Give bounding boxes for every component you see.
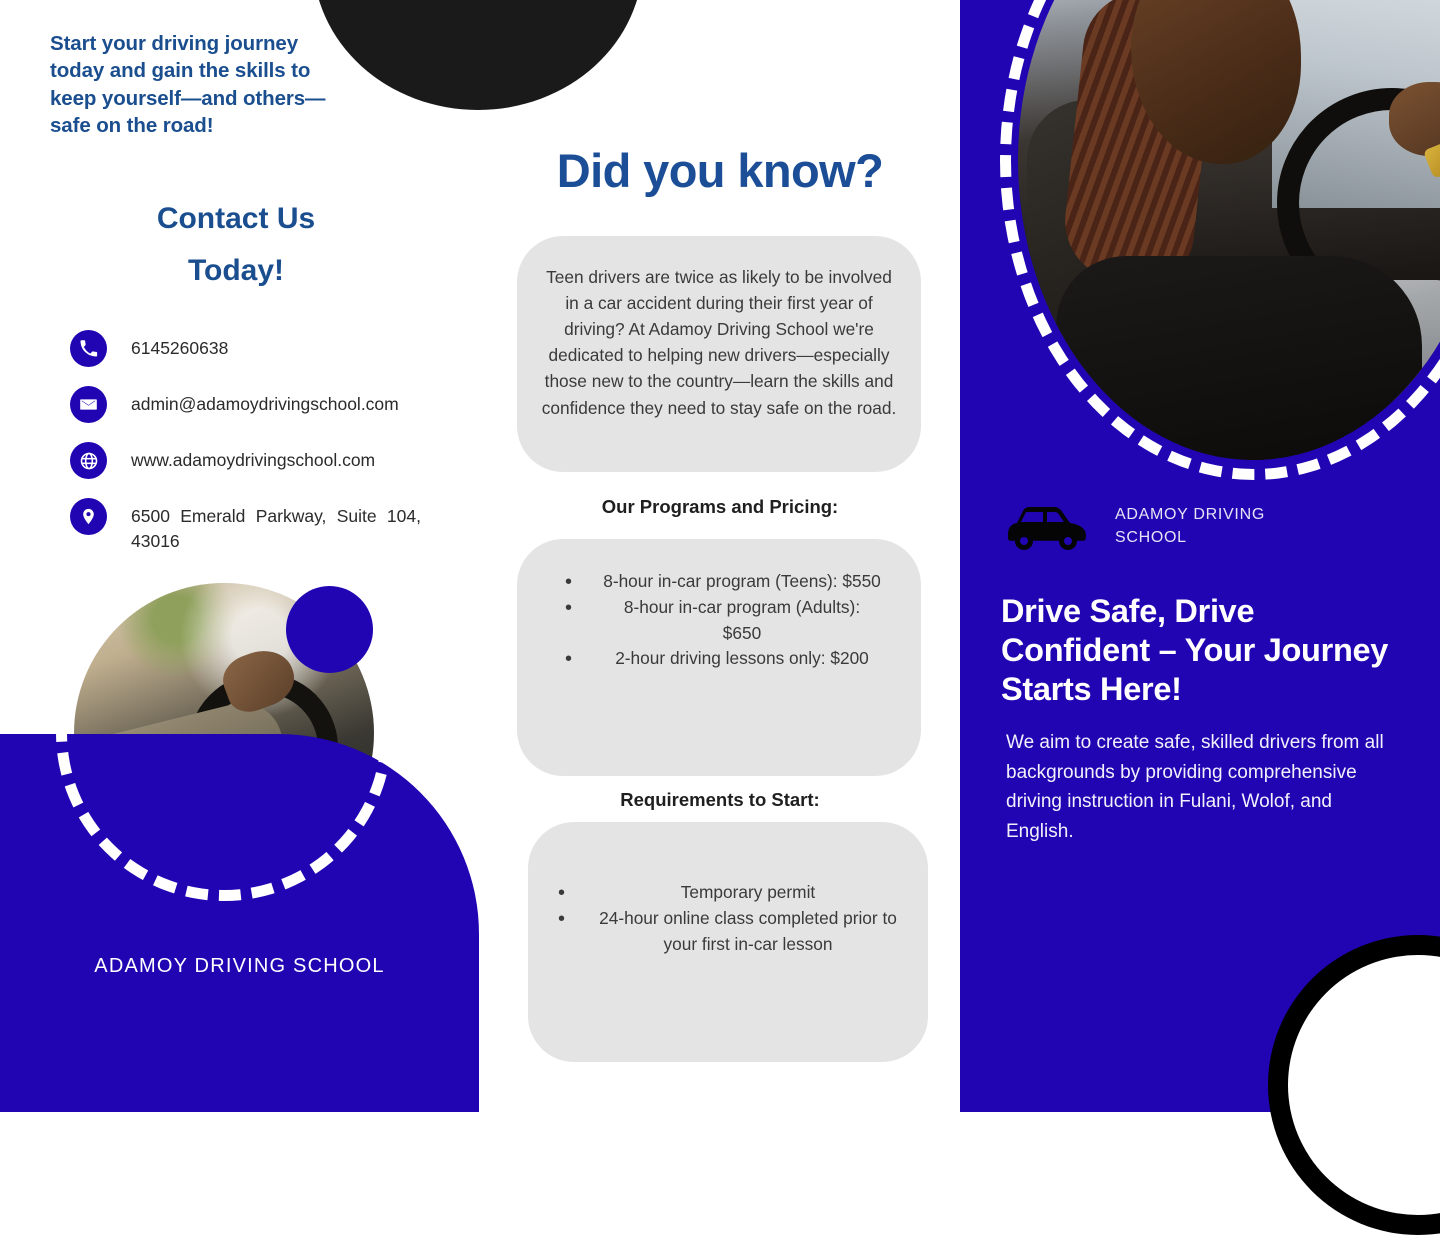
blue-circle-decoration [286, 586, 373, 673]
requirements-list: Temporary permit 24-hour online class co… [528, 880, 928, 957]
contact-list: 6145260638 admin@adamoydrivingschool.com [70, 330, 500, 573]
fact-text: Teen drivers are twice as likely to be i… [541, 264, 897, 421]
programs-heading: Our Programs and Pricing: [480, 496, 960, 518]
map-pin-icon [70, 498, 107, 535]
list-item: 24-hour online class completed prior to … [528, 906, 928, 958]
footer-brand-name: ADAMOY DRIVING SCHOOL [0, 955, 479, 978]
brand-logo-text: ADAMOY DRIVING SCHOOL [1115, 503, 1285, 549]
email-value: admin@adamoydrivingschool.com [131, 386, 399, 417]
envelope-icon [70, 386, 107, 423]
contact-title-line1: Contact Us [36, 193, 436, 245]
brand-name-line1: ADAMOY DRIVING [1115, 506, 1265, 523]
address-value: 6500 Emerald Parkway, Suite 104, 43016 [131, 498, 421, 554]
contact-title-line2: Today! [36, 245, 436, 297]
globe-icon [70, 442, 107, 479]
contact-row-email[interactable]: admin@adamoydrivingschool.com [70, 386, 500, 423]
requirements-card: Temporary permit 24-hour online class co… [528, 822, 928, 1062]
brand-logo: ADAMOY DRIVING SCHOOL [1000, 498, 1285, 554]
list-item: 8-hour in-car program (Teens): $550 [517, 569, 921, 595]
programs-card: 8-hour in-car program (Teens): $550 8-ho… [517, 539, 921, 776]
right-body-text: We aim to create safe, skilled drivers f… [1006, 728, 1388, 847]
car-icon [1000, 498, 1093, 554]
center-column: Did you know? Teen drivers are twice as … [480, 0, 960, 1112]
programs-list: 8-hour in-car program (Teens): $550 8-ho… [517, 569, 921, 672]
brand-name-line2: SCHOOL [1115, 529, 1187, 546]
lede-text: Start your driving journey today and gai… [50, 30, 330, 139]
woman-driving-photo [1018, 0, 1440, 460]
contact-row-address[interactable]: 6500 Emerald Parkway, Suite 104, 43016 [70, 498, 500, 554]
website-value: www.adamoydrivingschool.com [131, 442, 375, 473]
phone-value: 6145260638 [131, 330, 228, 361]
driver-shoulder-shape [1056, 256, 1423, 460]
contact-row-phone[interactable]: 6145260638 [70, 330, 500, 367]
bottom-left-blue-panel [0, 734, 479, 1112]
list-item: Temporary permit [528, 880, 928, 906]
right-headline: Drive Safe, Drive Confident – Your Journ… [1001, 592, 1393, 709]
list-item: 2-hour driving lessons only: $200 [517, 646, 921, 672]
contact-us-title: Contact Us Today! [36, 193, 436, 296]
phone-icon [70, 330, 107, 367]
woman-driving-photo-image [1018, 0, 1440, 460]
did-you-know-title: Did you know? [480, 143, 960, 198]
requirements-heading: Requirements to Start: [480, 789, 960, 811]
contact-row-website[interactable]: www.adamoydrivingschool.com [70, 442, 500, 479]
fact-card: Teen drivers are twice as likely to be i… [517, 236, 921, 472]
list-item: 8-hour in-car program (Adults): $650 [517, 595, 921, 647]
brochure-page: Start your driving journey today and gai… [0, 0, 1440, 1112]
